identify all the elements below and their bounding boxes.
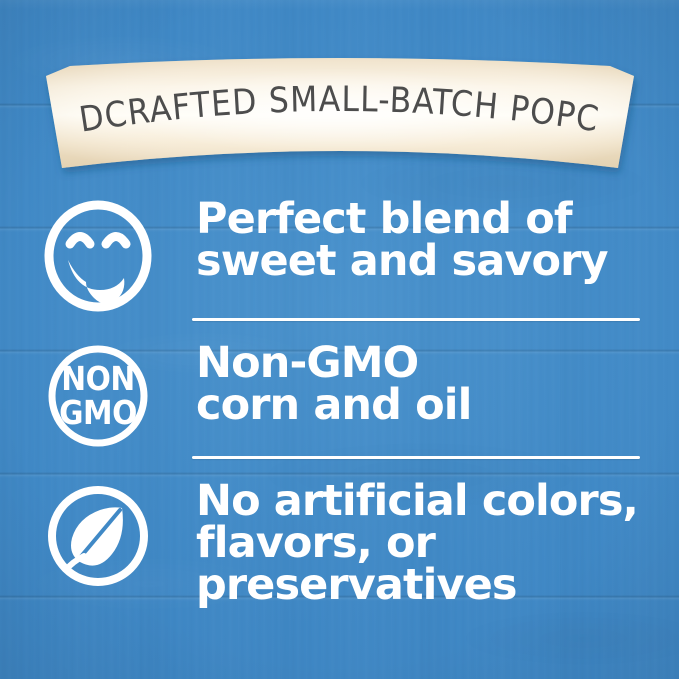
product-feature-infographic: HANDCRAFTED SMALL-BATCH POPCORN Perfect … bbox=[0, 0, 679, 679]
feature-icon-cell bbox=[0, 198, 196, 314]
feature-row-taste: Perfect blend of sweet and savory bbox=[0, 198, 679, 314]
feature-row-no-artificial: No artificial colors, flavors, or preser… bbox=[0, 480, 679, 606]
feature-headline: Non-GMO corn and oil bbox=[196, 342, 661, 426]
non-gmo-line-2: GMO bbox=[59, 393, 137, 432]
feature-copy-cell: Non-GMO corn and oil bbox=[196, 342, 679, 426]
feature-icon-cell bbox=[0, 480, 196, 592]
feature-headline: Perfect blend of sweet and savory bbox=[196, 198, 661, 282]
feature-headline: No artificial colors, flavors, or preser… bbox=[196, 480, 661, 606]
feature-copy-cell: Perfect blend of sweet and savory bbox=[196, 198, 679, 282]
banner: HANDCRAFTED SMALL-BATCH POPCORN bbox=[42, 60, 638, 178]
feature-icon-cell: NON GMO bbox=[0, 342, 196, 450]
divider-2 bbox=[192, 456, 640, 459]
smiley-tongue-icon bbox=[42, 198, 154, 314]
non-gmo-icon: NON GMO bbox=[42, 342, 154, 450]
feature-row-non-gmo: NON GMO Non-GMO corn and oil bbox=[0, 342, 679, 450]
divider-1 bbox=[192, 318, 640, 321]
feature-copy-cell: No artificial colors, flavors, or preser… bbox=[196, 480, 679, 606]
leaf-icon bbox=[42, 480, 154, 592]
